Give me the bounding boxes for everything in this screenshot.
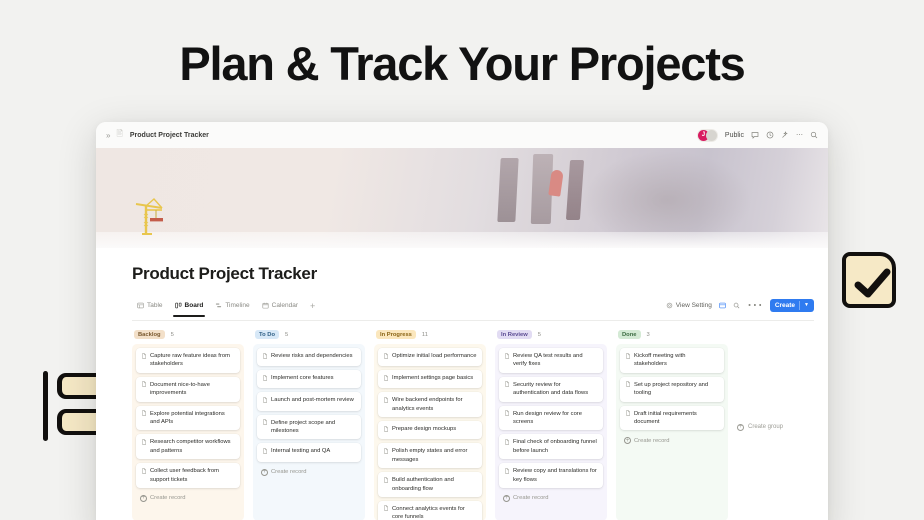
board-card[interactable]: Review copy and translations for key flo… [499, 463, 603, 488]
column-count: 5 [171, 332, 174, 338]
record-icon [383, 375, 389, 385]
column-header[interactable]: Done3 [616, 330, 728, 344]
column-header[interactable]: In Progress11 [374, 330, 486, 344]
board-column: Backlog5Capture raw feature ideas from s… [132, 330, 244, 520]
plus-icon: + [624, 437, 631, 444]
record-icon [383, 477, 389, 493]
card-title: Define project scope and milestones [271, 419, 356, 436]
check-card-icon [842, 252, 896, 308]
record-icon [262, 419, 268, 435]
timeline-icon [215, 302, 222, 309]
bracket-c-bottom [57, 409, 101, 435]
page-title[interactable]: Product Project Tracker [96, 248, 828, 284]
comment-icon[interactable] [751, 131, 759, 139]
board-card[interactable]: Run design review for core screens [499, 406, 603, 431]
record-icon [625, 410, 631, 426]
board-card[interactable]: Optimize initial load performance [378, 348, 482, 366]
record-icon [504, 410, 510, 426]
record-icon [383, 505, 389, 520]
card-title: Collect user feedback from support ticke… [150, 467, 235, 484]
card-title: Review QA test results and verify fixes [513, 352, 598, 369]
board-column: To Do5Review risks and dependenciesImple… [253, 330, 365, 520]
card-title: Implement core features [271, 374, 334, 384]
create-record-button[interactable]: +Create record [136, 492, 240, 503]
chrome-actions: J Public ⋯ [697, 129, 818, 142]
record-icon [141, 410, 147, 426]
board-card[interactable]: Kickoff meeting with stakeholders [620, 348, 724, 373]
record-icon [262, 448, 268, 458]
card-title: Implement settings page basics [392, 374, 473, 384]
avatar-secondary [706, 130, 717, 141]
create-record-button[interactable]: +Create record [499, 492, 603, 503]
board-card[interactable]: Define project scope and milestones [257, 415, 361, 440]
board-icon [175, 302, 182, 309]
share-status-label[interactable]: Public [725, 132, 744, 139]
add-view-button[interactable]: + [305, 300, 320, 312]
view-setting-button[interactable]: View Setting [666, 302, 712, 309]
record-icon [504, 468, 510, 484]
page-content: Product Project Tracker Table Board Time… [96, 248, 828, 520]
board-card[interactable]: Build authentication and onboarding flow [378, 472, 482, 497]
card-title: Launch and post-mortem review [271, 396, 354, 406]
history-icon[interactable] [766, 131, 774, 139]
card-title: Kickoff meeting with stakeholders [634, 352, 719, 369]
card-title: Optimize initial load performance [392, 352, 476, 362]
card-title: Explore potential integrations and APIs [150, 410, 235, 427]
record-icon [383, 397, 389, 413]
board-card[interactable]: Review risks and dependencies [257, 348, 361, 366]
board-card[interactable]: Explore potential integrations and APIs [136, 406, 240, 431]
column-count: 5 [538, 332, 541, 338]
record-icon [383, 448, 389, 464]
board-card[interactable]: Collect user feedback from support ticke… [136, 463, 240, 488]
board-card[interactable]: Implement core features [257, 370, 361, 388]
board-card[interactable]: Final check of onboarding funnel before … [499, 434, 603, 459]
column-header[interactable]: In Review5 [495, 330, 607, 344]
create-record-button[interactable]: +Create record [257, 466, 361, 477]
tab-label: Timeline [225, 302, 249, 309]
card-title: Wire backend endpoints for analytics eve… [392, 396, 477, 413]
record-icon [262, 397, 268, 407]
column-name-chip: In Progress [376, 330, 416, 339]
card-title: Connect analytics events for core funnel… [392, 505, 477, 520]
magic-wand-icon[interactable] [781, 131, 789, 139]
card-title: Build authentication and onboarding flow [392, 476, 477, 493]
board-card[interactable]: Connect analytics events for core funnel… [378, 501, 482, 520]
column-body: Kickoff meeting with stakeholdersSet up … [616, 344, 728, 520]
plus-icon: + [261, 469, 268, 476]
view-tabs-bar: Table Board Timeline Calendar + [132, 295, 814, 321]
column-count: 5 [285, 332, 288, 338]
create-record-button[interactable]: +Create record [620, 434, 724, 445]
record-icon [383, 426, 389, 436]
column-body: Capture raw feature ideas from stakehold… [132, 344, 244, 520]
view-toolbar: View Setting ⋯ Create ▼ [666, 295, 814, 317]
gear-icon [666, 302, 673, 309]
crane-illustration-icon [132, 194, 172, 238]
board-column: In Review5Review QA test results and ver… [495, 330, 607, 520]
create-record-label: Create record [634, 438, 669, 444]
board-card[interactable]: Polish empty states and error messages [378, 443, 482, 468]
column-name-chip: To Do [255, 330, 279, 339]
banner-shape [497, 158, 518, 222]
card-title: Review copy and translations for key flo… [513, 467, 598, 484]
tab-board[interactable]: Board [170, 300, 209, 313]
collaborator-avatars[interactable]: J [697, 129, 718, 142]
board-card[interactable]: Security review for authentication and d… [499, 377, 603, 402]
record-icon [141, 381, 147, 397]
tab-calendar[interactable]: Calendar [257, 300, 303, 313]
tab-timeline[interactable]: Timeline [210, 300, 254, 313]
tab-label: Table [147, 302, 163, 309]
plus-icon: + [140, 495, 147, 502]
create-group-button[interactable]: + Create group [737, 330, 783, 520]
record-icon [504, 439, 510, 455]
create-group-label: Create group [748, 424, 783, 430]
board-card[interactable]: Review QA test results and verify fixes [499, 348, 603, 373]
board-card[interactable]: Research competitor workflows and patter… [136, 434, 240, 459]
board-card[interactable]: Internal testing and QA [257, 443, 361, 461]
record-icon [262, 353, 268, 363]
create-button-label: Create [775, 302, 795, 309]
cover-banner[interactable] [96, 148, 828, 248]
record-icon [141, 353, 147, 369]
board-card[interactable]: Implement settings page basics [378, 370, 482, 388]
column-name-chip: In Review [497, 330, 532, 339]
expand-sidebar-icon[interactable]: » [106, 131, 109, 140]
board-card[interactable]: Set up project repository and tooling [620, 377, 724, 402]
breadcrumb[interactable]: Product Project Tracker [130, 132, 209, 139]
chevron-down-icon[interactable]: ▼ [804, 302, 809, 308]
search-icon[interactable] [810, 131, 818, 139]
record-icon [383, 353, 389, 363]
app-window: » 🖹 Product Project Tracker J Public ⋯ [96, 122, 828, 520]
document-icon: 🖹 [116, 128, 122, 142]
plus-icon: + [737, 424, 744, 431]
calendar-icon [262, 302, 269, 309]
board-column: In Progress11Optimize initial load perfo… [374, 330, 486, 520]
create-record-label: Create record [271, 469, 306, 475]
banner-accent-shape [548, 169, 564, 196]
column-body: Review risks and dependenciesImplement c… [253, 344, 365, 520]
view-setting-label: View Setting [676, 302, 712, 309]
card-title: Research competitor workflows and patter… [150, 438, 235, 455]
filter-icon[interactable] [719, 302, 726, 309]
column-header[interactable]: Backlog5 [132, 330, 244, 344]
board-card[interactable]: Draft initial requirements document [620, 406, 724, 431]
card-title: Polish empty states and error messages [392, 447, 477, 464]
more-options-icon[interactable]: ⋯ [747, 295, 763, 315]
banner-floor [96, 232, 828, 248]
card-title: Review risks and dependencies [271, 352, 353, 362]
column-name-chip: Backlog [134, 330, 165, 339]
kanban-board: Backlog5Capture raw feature ideas from s… [96, 321, 828, 520]
table-icon [137, 302, 144, 309]
bracket-bar [43, 371, 48, 441]
banner-shape [566, 160, 584, 220]
record-icon [262, 375, 268, 385]
page-headline: Plan & Track Your Projects [0, 38, 924, 91]
column-count: 3 [647, 332, 650, 338]
record-icon [141, 439, 147, 455]
checkmark-icon [854, 267, 892, 301]
app-top-bar: » 🖹 Product Project Tracker J Public ⋯ [96, 122, 828, 148]
record-icon [141, 468, 147, 484]
card-title: Document nice-to-have improvements [150, 381, 235, 398]
column-header[interactable]: To Do5 [253, 330, 365, 344]
card-title: Internal testing and QA [271, 447, 330, 457]
record-icon [625, 381, 631, 397]
board-card[interactable]: Prepare design mockups [378, 421, 482, 439]
search-icon[interactable] [733, 302, 740, 309]
board-card[interactable]: Document nice-to-have improvements [136, 377, 240, 402]
column-count: 11 [422, 332, 428, 338]
card-title: Run design review for core screens [513, 410, 598, 427]
record-icon [625, 353, 631, 369]
board-column: Done3Kickoff meeting with stakeholdersSe… [616, 330, 728, 520]
card-title: Security review for authentication and d… [513, 381, 598, 398]
record-icon [504, 381, 510, 397]
tab-label: Calendar [272, 302, 298, 309]
card-title: Set up project repository and tooling [634, 381, 719, 398]
create-button-divider [799, 301, 800, 310]
column-body: Optimize initial load performanceImpleme… [374, 344, 486, 520]
bracket-c-top [57, 373, 101, 399]
card-title: Draft initial requirements document [634, 410, 719, 427]
more-options-icon[interactable]: ⋯ [796, 131, 803, 139]
column-name-chip: Done [618, 330, 641, 339]
card-title: Prepare design mockups [392, 425, 456, 435]
create-record-label: Create record [513, 495, 548, 501]
card-title: Final check of onboarding funnel before … [513, 438, 598, 455]
record-icon [504, 353, 510, 369]
column-body: Review QA test results and verify fixesS… [495, 344, 607, 520]
create-record-label: Create record [150, 495, 185, 501]
tab-label: Board [185, 302, 204, 309]
tab-table[interactable]: Table [132, 300, 168, 313]
board-card[interactable]: Capture raw feature ideas from stakehold… [136, 348, 240, 373]
card-title: Capture raw feature ideas from stakehold… [150, 352, 235, 369]
board-card[interactable]: Launch and post-mortem review [257, 392, 361, 410]
plus-icon: + [503, 495, 510, 502]
board-card[interactable]: Wire backend endpoints for analytics eve… [378, 392, 482, 417]
create-button[interactable]: Create ▼ [770, 299, 814, 312]
